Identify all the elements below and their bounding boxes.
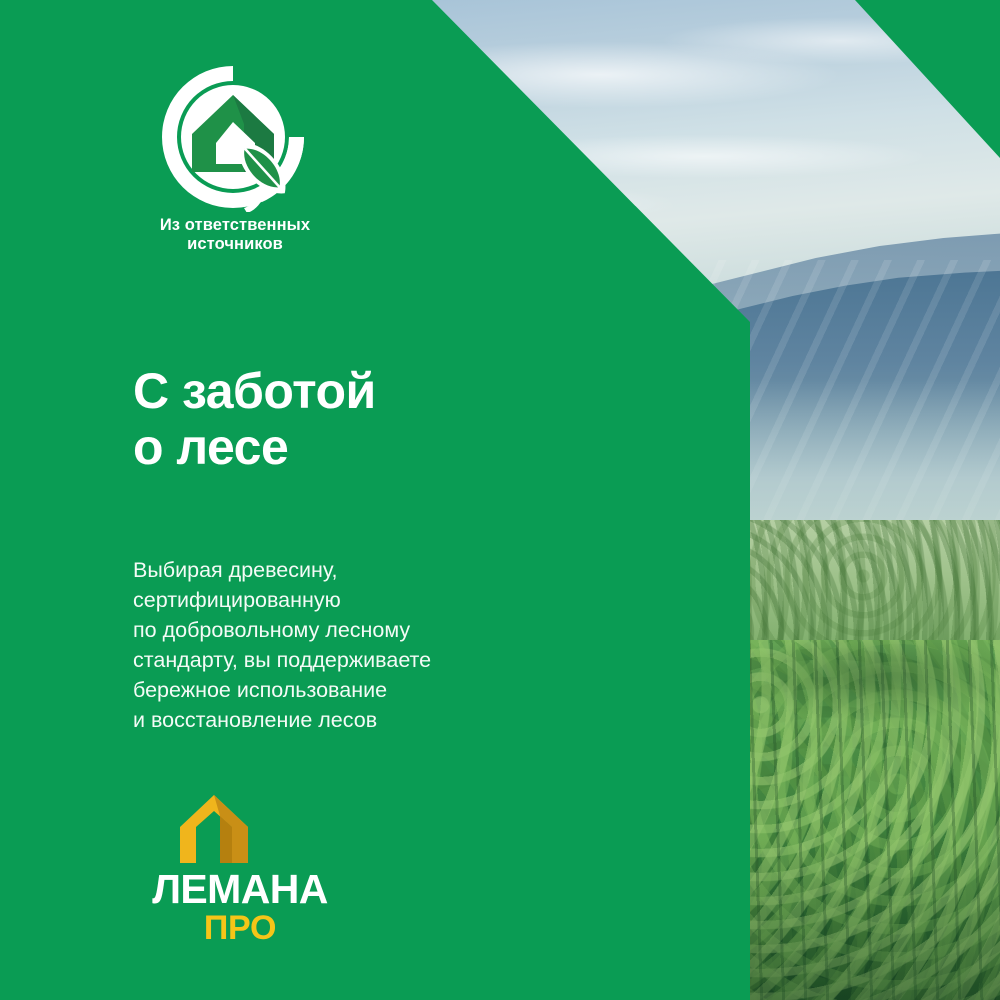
lemana-pro-logo: ЛЕМАНА ПРО xyxy=(140,793,340,943)
poster-content: Из ответственных источников С заботой о … xyxy=(0,0,750,1000)
responsible-sources-badge: Из ответственных источников xyxy=(132,62,338,262)
page-title: С заботой о лесе xyxy=(133,363,693,475)
body-paragraph: Выбирая древесину, сертифицированную по … xyxy=(133,555,693,735)
poster-canvas: Из ответственных источников С заботой о … xyxy=(0,0,1000,1000)
lemana-house-icon xyxy=(176,793,252,865)
brand-name: ЛЕМАНА xyxy=(140,869,340,910)
brand-subtitle: ПРО xyxy=(140,911,340,945)
responsible-sources-caption: Из ответственных источников xyxy=(132,216,338,254)
house-leaf-circle-icon xyxy=(158,62,308,212)
